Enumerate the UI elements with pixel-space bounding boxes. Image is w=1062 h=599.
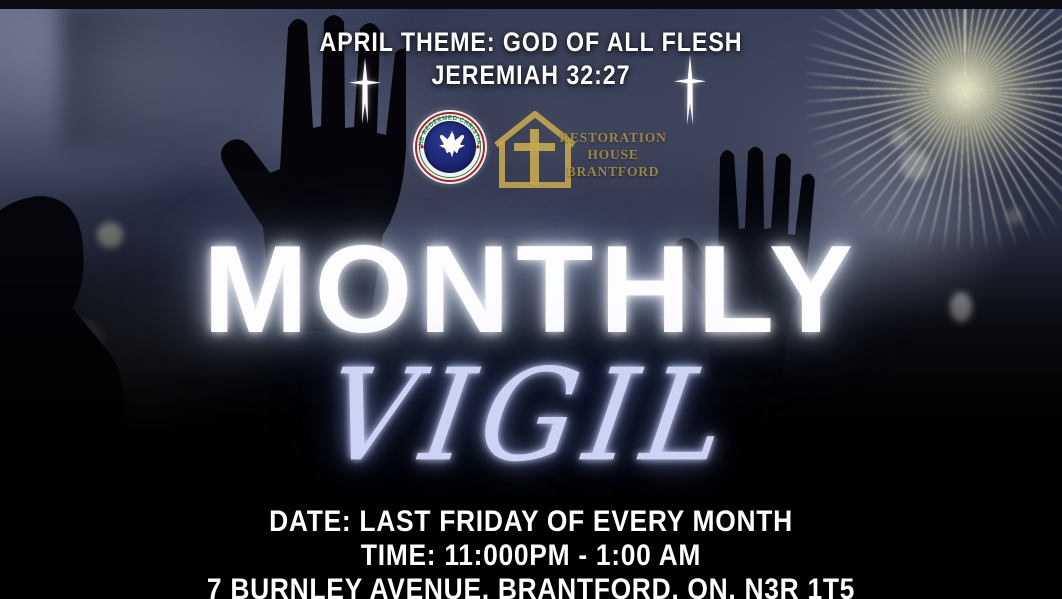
detail-address: 7 BURNLEY AVENUE, BRANTFORD, ON, N3R 1T5 — [64, 573, 999, 599]
rh-line-3: BRANTFORD — [558, 163, 668, 180]
flyer-canvas: APRIL THEME: GOD OF ALL FLESH JEREMIAH 3… — [0, 0, 1062, 599]
rccg-logo: THE REDEEMED CHRISTIAN CHURCH OF GOD ★ ★ — [413, 110, 487, 184]
title-monthly: MONTHLY — [0, 228, 1062, 352]
theme-line-1: APRIL THEME: GOD OF ALL FLESH — [74, 26, 987, 59]
logo-row: THE REDEEMED CHRISTIAN CHURCH OF GOD ★ ★ — [408, 105, 668, 191]
rh-line-1: RESTORATION — [558, 129, 668, 146]
content-layer: APRIL THEME: GOD OF ALL FLESH JEREMIAH 3… — [0, 0, 1062, 599]
title-vigil: VIGIL — [0, 348, 1062, 486]
rh-line-2: HOUSE — [558, 146, 668, 163]
cross-right-icon — [674, 55, 706, 125]
event-details: DATE: LAST FRIDAY OF EVERY MONTH TIME: 1… — [64, 505, 999, 599]
rccg-star-left: ★ — [419, 144, 425, 151]
cross-left-icon — [349, 58, 381, 124]
detail-date: DATE: LAST FRIDAY OF EVERY MONTH — [64, 505, 999, 539]
restoration-house-wordmark: RESTORATION HOUSE BRANTFORD — [558, 129, 668, 180]
detail-time: TIME: 11:000PM - 1:00 AM — [64, 539, 999, 573]
theme-line-2: JEREMIAH 32:27 — [74, 59, 987, 92]
rccg-star-right: ★ — [475, 144, 481, 151]
dove-icon — [433, 130, 467, 165]
restoration-house-logo: RESTORATION HOUSE BRANTFORD — [492, 107, 668, 189]
theme-heading: APRIL THEME: GOD OF ALL FLESH JEREMIAH 3… — [74, 26, 987, 92]
